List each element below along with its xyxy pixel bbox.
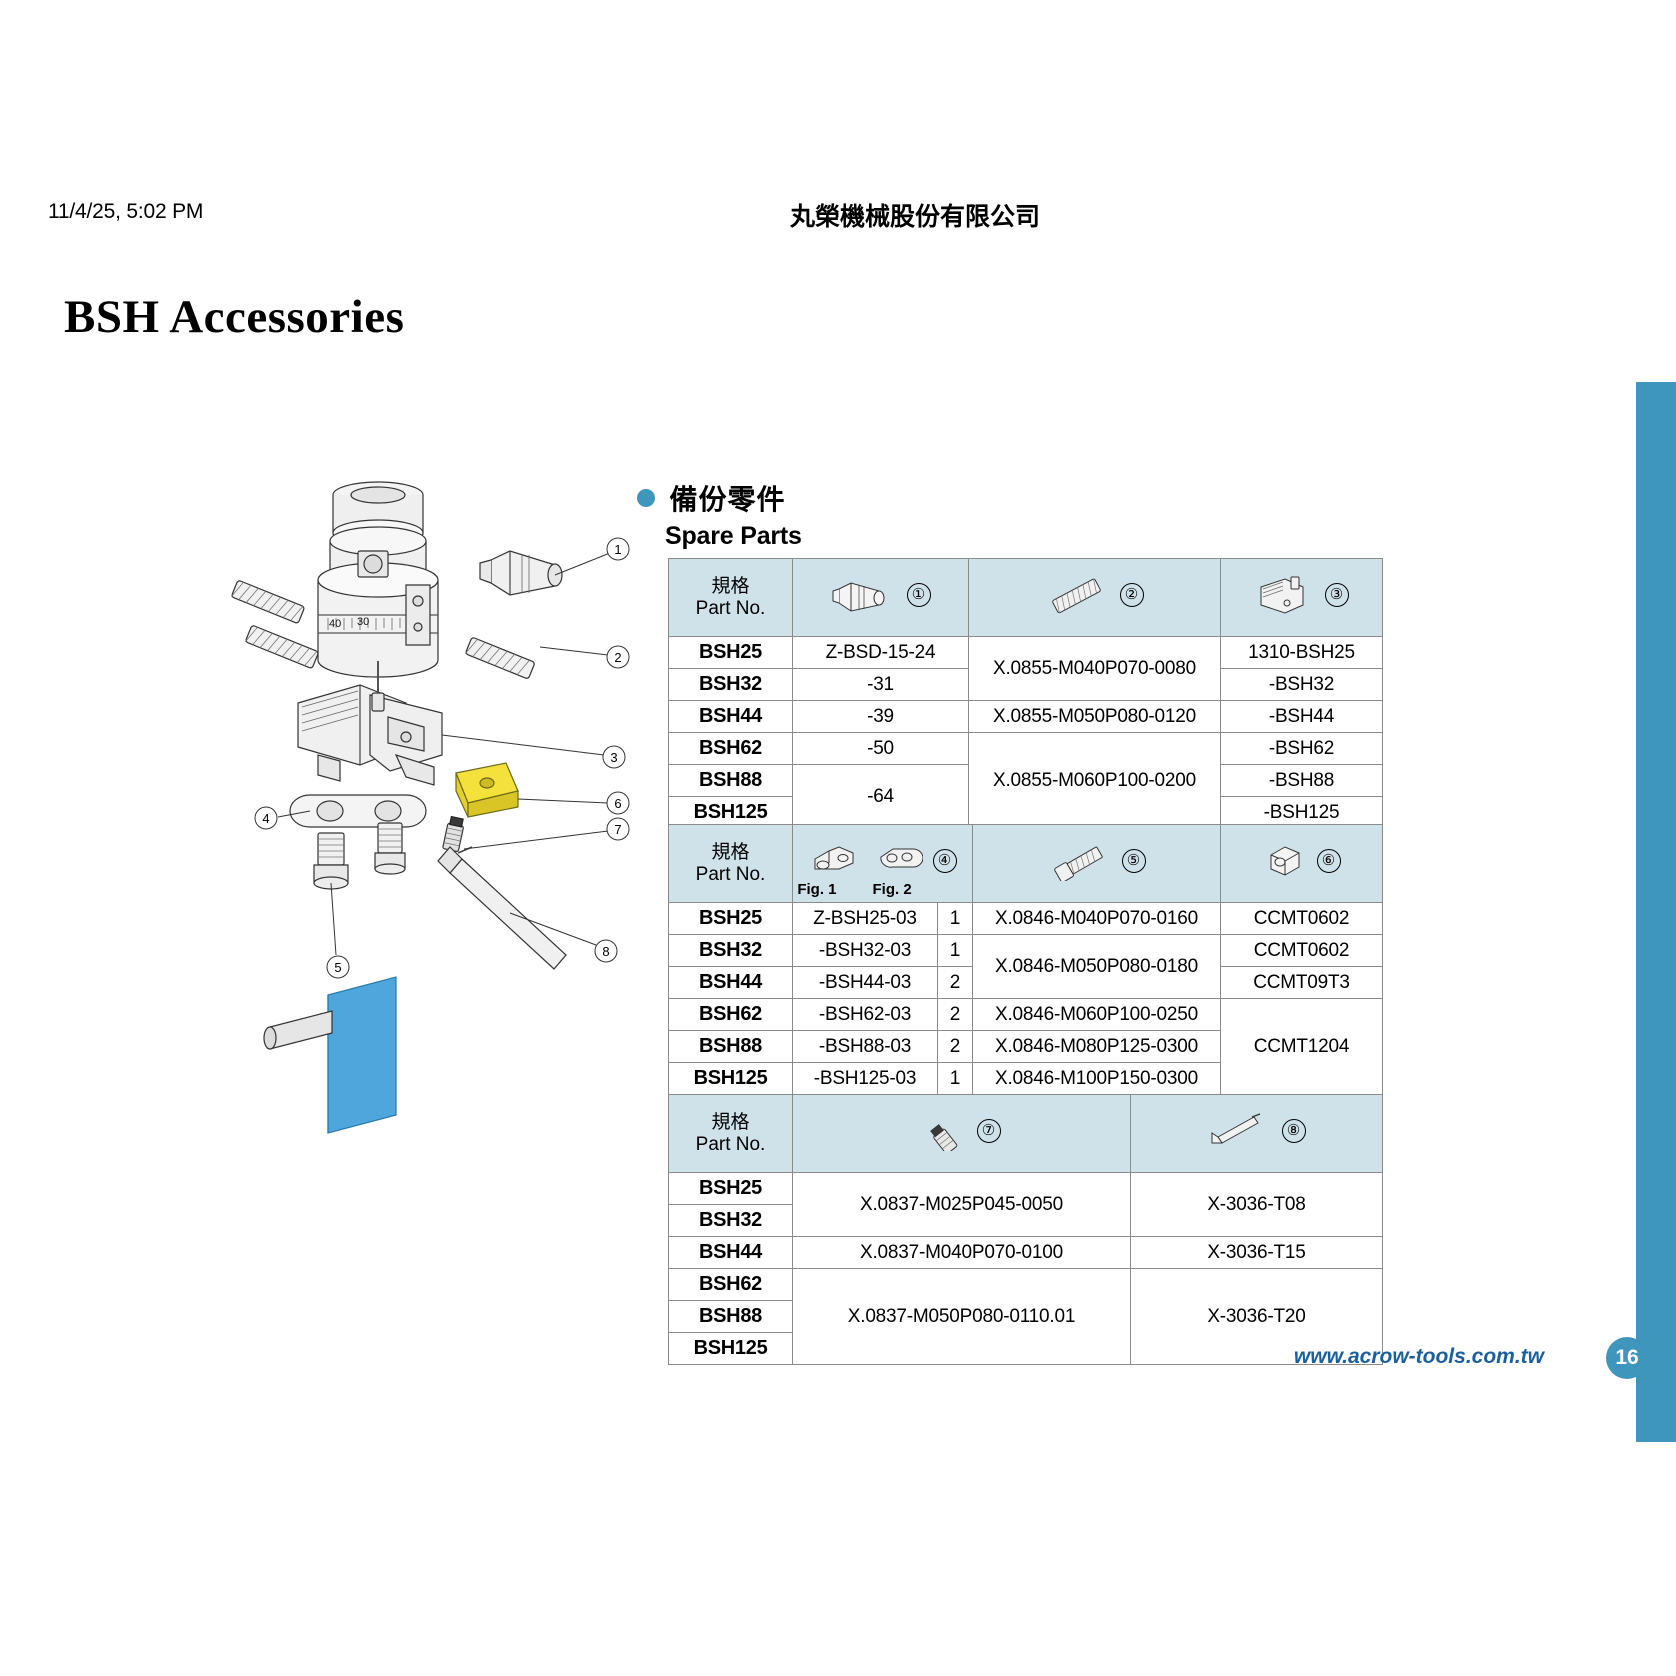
print-header: 11/4/25, 5:02 PM 丸榮機械股份有限公司 (0, 200, 1676, 234)
part-no-cell: BSH25 (669, 903, 793, 935)
table-row: BSH62 -50 X.0855-M060P100-0200 -BSH62 (669, 733, 1383, 765)
table-row: BSH25 Z-BSH25-03 1 X.0846-M040P070-0160 … (669, 903, 1383, 935)
table-row: BSH62 -BSH62-03 2 X.0846-M060P100-0250 C… (669, 999, 1383, 1031)
side-accent-bar (1636, 382, 1676, 1442)
qty-cell: 2 (938, 999, 973, 1031)
circled-number-6: ⑥ (1317, 849, 1341, 873)
table-row: BSH62 X.0837-M050P080-0110.01 X-3036-T20 (669, 1269, 1383, 1301)
header-col-6: ⑥ (1221, 825, 1383, 903)
part-no-cell: BSH25 (669, 637, 793, 669)
value-cell: CCMT09T3 (1221, 967, 1383, 999)
part-7-grubscrew (443, 816, 466, 852)
spare-parts-table-1: 規格 Part No. ① (668, 558, 1383, 829)
value-cell: -BSH32 (1221, 669, 1383, 701)
value-cell: -BSH32-03 (793, 935, 938, 967)
value-cell: -BSH125-03 (793, 1063, 938, 1095)
part-no-cell: BSH88 (669, 765, 793, 797)
callout-8: 8 (595, 940, 617, 962)
circled-number-2: ② (1120, 583, 1144, 607)
value-cell: -BSH44-03 (793, 967, 938, 999)
part-no-cell: BSH44 (669, 701, 793, 733)
part-1-sleeve (480, 551, 562, 595)
part-no-cell: BSH32 (669, 669, 793, 701)
page-title: BSH Accessories (64, 290, 404, 344)
table-2-header-row: 規格 Part No. (669, 825, 1383, 903)
clamp-fig1-icon (809, 841, 865, 881)
cartridge-block-icon (1255, 573, 1315, 617)
value-cell: X.0846-M080P125-0300 (973, 1031, 1221, 1063)
value-cell: X.0855-M040P070-0080 (969, 637, 1221, 701)
table-row: BSH25 X.0837-M025P045-0050 X-3036-T08 (669, 1173, 1383, 1205)
value-cell: X.0837-M050P080-0110.01 (793, 1269, 1131, 1365)
grub-screw-icon (923, 1111, 967, 1151)
value-cell: -BSH44 (1221, 701, 1383, 733)
boring-head-body (318, 482, 438, 677)
part-4-linkplate (290, 795, 426, 827)
website-url[interactable]: www.acrow-tools.com.tw (1294, 1345, 1544, 1369)
circled-number-1: ① (907, 583, 931, 607)
svg-text:3: 3 (610, 750, 617, 765)
value-cell: CCMT0602 (1221, 903, 1383, 935)
page-number: 16 (1606, 1337, 1648, 1379)
callout-5: 5 (327, 956, 349, 978)
table-row: BSH44 -39 X.0855-M050P080-0120 -BSH44 (669, 701, 1383, 733)
circled-number-7: ⑦ (977, 1119, 1001, 1143)
value-cell: Z-BSH25-03 (793, 903, 938, 935)
boring-bar (264, 977, 396, 1133)
circled-number-3: ③ (1325, 583, 1349, 607)
header-col-3: ③ (1221, 559, 1383, 637)
qty-cell: 1 (938, 903, 973, 935)
callout-3: 3 (603, 746, 625, 768)
table-3-header-row: 規格 Part No. ⑦ (669, 1095, 1383, 1173)
table-row: BSH44 X.0837-M040P070-0100 X-3036-T15 (669, 1237, 1383, 1269)
part-5-capscrews (314, 823, 405, 889)
print-timestamp: 11/4/25, 5:02 PM (48, 200, 203, 224)
qty-cell: 2 (938, 967, 973, 999)
callout-2: 2 (607, 646, 629, 668)
value-cell: -39 (793, 701, 969, 733)
part-no-cell: BSH88 (669, 1301, 793, 1333)
svg-text:5: 5 (334, 960, 341, 975)
value-cell: -50 (793, 733, 969, 765)
part-8-torx-wrench (438, 847, 566, 969)
value-cell: X.0846-M100P150-0300 (973, 1063, 1221, 1095)
cap-screw-icon (1048, 841, 1112, 881)
spare-parts-table-2: 規格 Part No. (668, 824, 1383, 1095)
table-row: BSH32 -BSH32-03 1 X.0846-M050P080-0180 C… (669, 935, 1383, 967)
qty-cell: 2 (938, 1031, 973, 1063)
qty-cell: 1 (938, 1063, 973, 1095)
callout-7: 7 (607, 818, 629, 840)
part-no-cell: BSH62 (669, 999, 793, 1031)
part-no-cell: BSH88 (669, 1031, 793, 1063)
value-cell: X.0846-M060P100-0250 (973, 999, 1221, 1031)
svg-text:1: 1 (614, 542, 621, 557)
value-cell: CCMT1204 (1221, 999, 1383, 1095)
fig-2-label: Fig. 2 (873, 881, 912, 898)
value-cell: Z-BSD-15-24 (793, 637, 969, 669)
svg-text:8: 8 (602, 944, 609, 959)
header-part-no: 規格 Part No. (669, 1095, 793, 1173)
part-3-cartridge (298, 685, 442, 785)
circled-number-5: ⑤ (1122, 849, 1146, 873)
value-cell: X.0846-M040P070-0160 (973, 903, 1221, 935)
fig-1-label: Fig. 1 (797, 881, 836, 898)
value-cell: X-3036-T15 (1131, 1237, 1383, 1269)
value-cell: -BSH62-03 (793, 999, 938, 1031)
part-no-cell: BSH44 (669, 967, 793, 999)
header-col-7: ⑦ (793, 1095, 1131, 1173)
header-col-4: ④ Fig. 1 Fig. 2 (793, 825, 973, 903)
value-cell: X.0846-M050P080-0180 (973, 935, 1221, 999)
part-no-cell: BSH44 (669, 1237, 793, 1269)
value-cell: -BSH62 (1221, 733, 1383, 765)
svg-text:4: 4 (262, 811, 269, 826)
callout-6: 6 (607, 792, 629, 814)
table-row: BSH25 Z-BSD-15-24 X.0855-M040P070-0080 1… (669, 637, 1383, 669)
exploded-assembly-diagram: 40 30 (210, 455, 640, 1135)
dial-label-40: 40 (329, 618, 341, 630)
section-heading-en: Spare Parts (665, 522, 1037, 551)
ccmt-insert-icon (1263, 841, 1307, 881)
value-cell: -BSH88-03 (793, 1031, 938, 1063)
circled-number-8: ⑧ (1282, 1119, 1306, 1143)
header-col-1: ① (793, 559, 969, 637)
part-no-cell: BSH125 (669, 1333, 793, 1365)
value-cell: X-3036-T08 (1131, 1173, 1383, 1237)
value-cell: 1310-BSH25 (1221, 637, 1383, 669)
part-no-cell: BSH125 (669, 1063, 793, 1095)
part-no-cell: BSH62 (669, 733, 793, 765)
callout-4: 4 (255, 807, 277, 829)
value-cell: X.0855-M060P100-0200 (969, 733, 1221, 829)
qty-cell: 1 (938, 935, 973, 967)
svg-text:7: 7 (614, 822, 621, 837)
company-name: 丸榮機械股份有限公司 (790, 197, 1040, 233)
value-cell: CCMT0602 (1221, 935, 1383, 967)
part-no-cell: BSH25 (669, 1173, 793, 1205)
value-cell: X.0837-M040P070-0100 (793, 1237, 1131, 1269)
part-no-cell: BSH32 (669, 1205, 793, 1237)
header-col-8: ⑧ (1131, 1095, 1383, 1173)
circled-number-4: ④ (933, 849, 957, 873)
value-cell: X.0837-M025P045-0050 (793, 1173, 1131, 1237)
header-part-no: 規格 Part No. (669, 559, 793, 637)
sleeve-bush-icon (831, 575, 897, 615)
section-heading-zh: 備份零件 (669, 478, 785, 518)
header-col-5: ⑤ (973, 825, 1221, 903)
value-cell: -64 (793, 765, 969, 829)
value-cell: -31 (793, 669, 969, 701)
value-cell: X.0855-M050P080-0120 (969, 701, 1221, 733)
svg-text:6: 6 (614, 796, 621, 811)
header-col-2: ② (969, 559, 1221, 637)
dial-label-30: 30 (357, 616, 369, 628)
torx-wrench-icon (1208, 1111, 1272, 1151)
part-no-cell: BSH62 (669, 1269, 793, 1301)
set-screw-icon (1046, 575, 1110, 615)
spare-parts-heading: 備份零件 Spare Parts (637, 478, 1037, 551)
spare-parts-table-3: 規格 Part No. ⑦ (668, 1094, 1383, 1365)
shim-fig2-icon (875, 841, 923, 881)
part-6-insert (456, 763, 518, 817)
svg-text:2: 2 (614, 650, 621, 665)
table-1-header-row: 規格 Part No. ① (669, 559, 1383, 637)
callout-1: 1 (607, 538, 629, 560)
header-part-no: 規格 Part No. (669, 825, 793, 903)
part-no-cell: BSH32 (669, 935, 793, 967)
value-cell: -BSH88 (1221, 765, 1383, 797)
